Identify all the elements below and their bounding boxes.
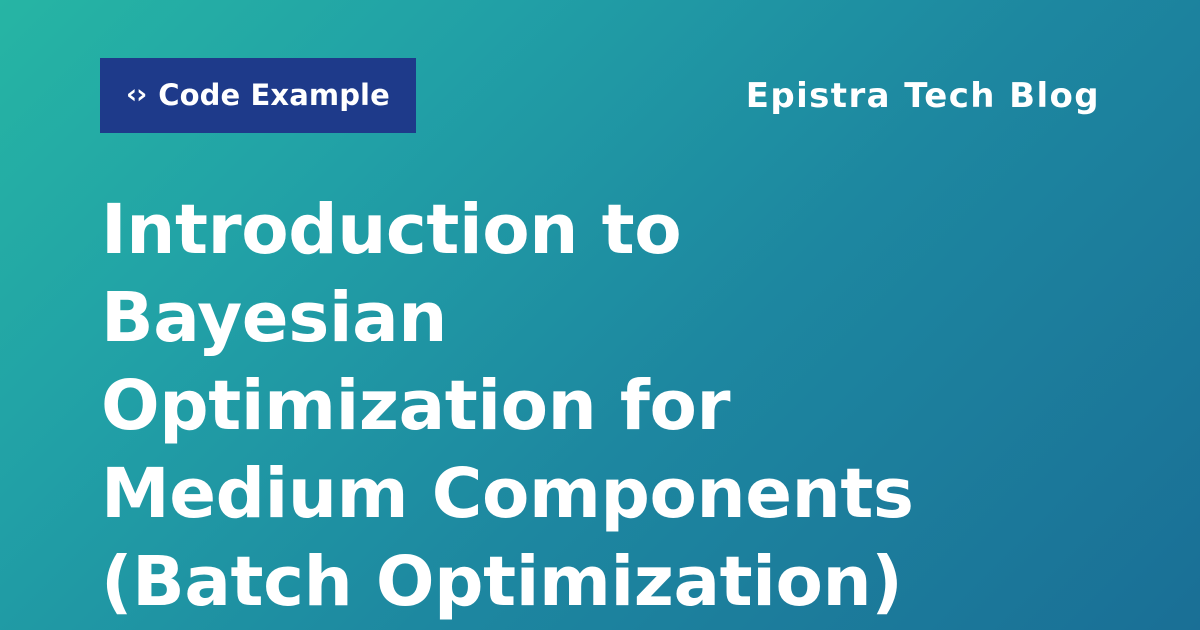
code-example-badge: ‹› Code Example (100, 58, 416, 133)
page-title: Introduction to Bayesian Optimization fo… (101, 186, 931, 626)
badge-label: Code Example (158, 81, 390, 110)
og-card: ‹› Code Example Epistra Tech Blog Introd… (0, 0, 1200, 630)
header-row: ‹› Code Example Epistra Tech Blog (100, 58, 1100, 133)
code-brackets-icon: ‹› (126, 81, 146, 108)
site-name: Epistra Tech Blog (746, 79, 1100, 113)
